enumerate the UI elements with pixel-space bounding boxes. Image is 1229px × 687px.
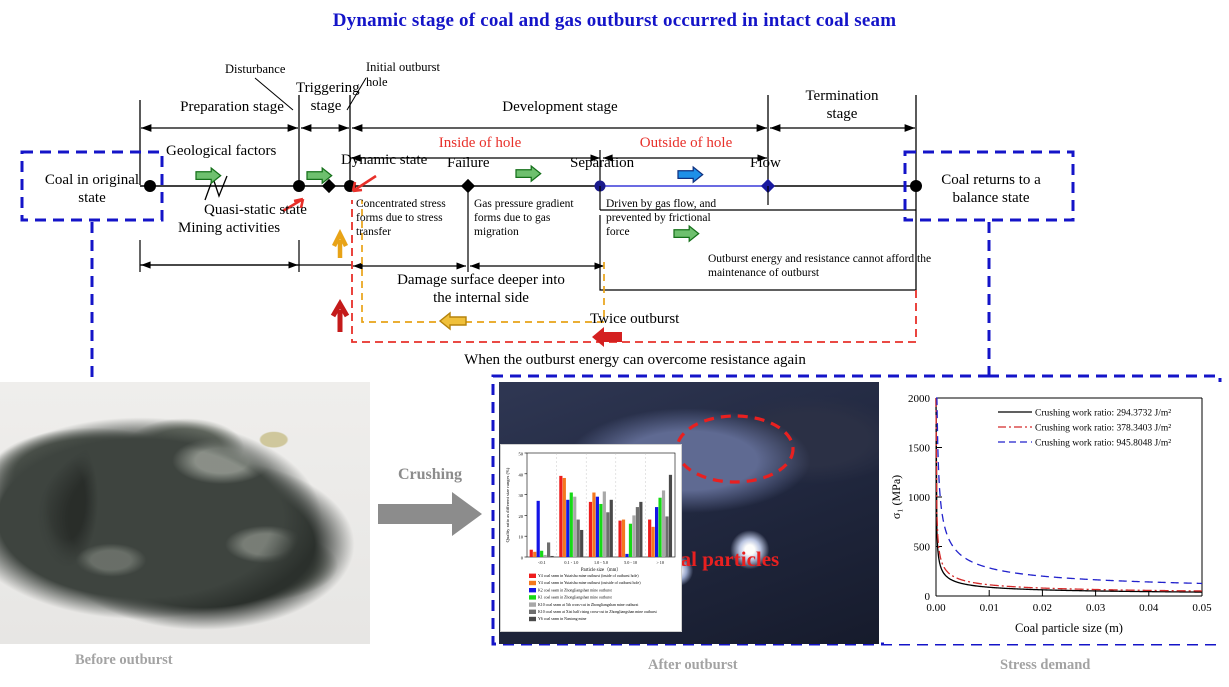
node-label-coal-original-2: state (28, 190, 156, 207)
desc-twice-outburst: Twice outburst (590, 311, 679, 328)
desc-driven-by-gas: Driven by gas flow, and prevented by fri… (606, 197, 724, 239)
red-arrow-left (592, 327, 622, 347)
node-label-geological-factors: Geological factors (166, 143, 276, 160)
stage-label-development: Development stage (460, 99, 660, 116)
svg-text:σ₁ (MPa): σ₁ (MPa) (889, 475, 903, 519)
svg-text:1500: 1500 (908, 443, 931, 455)
stage-label-preparation: Preparation stage (168, 99, 296, 116)
svg-text:K2 coal seam in Zhongliangshan: K2 coal seam in Zhongliangshan mine outb… (538, 588, 613, 592)
svg-text:Coal particle size (m): Coal particle size (m) (1015, 621, 1123, 635)
svg-text:30: 30 (519, 493, 524, 498)
callout-disturbance: Disturbance (225, 62, 285, 76)
svg-text:Quality ratio as different siz: Quality ratio as different size ranges (… (505, 467, 510, 542)
svg-text:> 10: > 10 (656, 560, 664, 565)
callout-initial-hole-2: hole (366, 75, 388, 89)
node-label-separation: Separation (570, 155, 634, 172)
node-label-coal-returns-2: balance state (920, 190, 1062, 207)
svg-text:K10 coal seam at Xist half ris: K10 coal seam at Xist half rising cross-… (538, 610, 658, 614)
blue-arrow (678, 167, 703, 182)
caption-stress-demand: Stress demand (1000, 657, 1090, 674)
desc-gas-pressure: Gas pressure gradient forms due to gas m… (474, 197, 592, 239)
svg-text:500: 500 (914, 542, 931, 554)
svg-text:20: 20 (519, 514, 524, 519)
svg-text:Y6 coal seam in Nantong mine: Y6 coal seam in Nantong mine (538, 617, 587, 621)
svg-text:0.01: 0.01 (980, 602, 999, 614)
node-label-flow: Flow (750, 155, 781, 172)
node-label-failure: Failure (447, 155, 490, 172)
svg-text:K1 coal seam in Zhongliangshan: K1 coal seam in Zhongliangshan mine outb… (538, 596, 613, 600)
svg-text:0.1 - 1.0: 0.1 - 1.0 (564, 560, 578, 565)
svg-text:5.0 - 10: 5.0 - 10 (624, 560, 637, 565)
callout-initial-hole-1: Initial outburst (366, 60, 440, 74)
svg-text:10: 10 (519, 535, 524, 540)
node-label-quasi-static: Quasi-static state (204, 202, 307, 219)
stress-demand-chart: 05001000150020000.000.010.020.030.040.05… (884, 382, 1224, 644)
embedded-bar-chart: 01020304050Quality ratio as different si… (500, 444, 682, 632)
caption-after-outburst: After outburst (648, 657, 738, 674)
label-crushing: Crushing (398, 466, 462, 484)
crushing-arrow (378, 490, 498, 560)
stage-label-termination-1: Termination (780, 88, 904, 105)
svg-text:<0.1: <0.1 (538, 560, 546, 565)
band-label-inside-hole: Inside of hole (400, 135, 560, 152)
svg-text:40: 40 (519, 472, 524, 477)
node-label-mining-activities: Mining activities (178, 220, 280, 237)
svg-text:50: 50 (519, 452, 524, 457)
stage-label-triggering-2: stage (296, 98, 356, 115)
svg-text:K10 coal seam at 5th cross-cut: K10 coal seam at 5th cross-cut in Zhongl… (538, 603, 639, 607)
band-label-outside-hole: Outside of hole (613, 135, 759, 152)
svg-text:0.02: 0.02 (1033, 602, 1052, 614)
desc-overcome-resistance: When the outburst energy can overcome re… (355, 352, 915, 369)
desc-damage-surface-2: the internal side (368, 290, 594, 307)
node-label-coal-returns-1: Coal returns to a (920, 172, 1062, 189)
svg-text:0.03: 0.03 (1086, 602, 1106, 614)
svg-text:1000: 1000 (908, 492, 931, 504)
svg-text:1.0 - 5.0: 1.0 - 5.0 (594, 560, 608, 565)
stage-label-triggering-1: Triggering (296, 80, 356, 97)
photo-before-outburst (0, 382, 370, 644)
svg-text:0.04: 0.04 (1139, 602, 1159, 614)
svg-text:2000: 2000 (908, 393, 931, 405)
svg-text:Particle size（mm）: Particle size（mm） (581, 567, 621, 573)
desc-concentrated-stress: Concentrated stress forms due to stress … (356, 197, 464, 239)
node-label-dynamic-state: Dynamic state (341, 152, 427, 169)
svg-text:Y4 coal seam in Yutaishu mine: Y4 coal seam in Yutaishu mine outburst (… (538, 581, 641, 585)
svg-text:Y4 coal seam in Yutaishu mine: Y4 coal seam in Yutaishu mine outburst (… (538, 574, 639, 578)
orange-arrow-left (440, 313, 466, 329)
svg-text:0: 0 (521, 556, 524, 561)
svg-text:Crushing work ratio: 378.3403: Crushing work ratio: 378.3403 J/m² (1035, 424, 1171, 434)
red-ellipse-annotation (677, 416, 793, 482)
svg-text:0.05: 0.05 (1192, 602, 1212, 614)
svg-text:Crushing work ratio: 294.3732: Crushing work ratio: 294.3732 J/m² (1035, 409, 1171, 419)
stage-label-termination-2: stage (780, 106, 904, 123)
svg-text:Crushing work ratio: 945.8048: Crushing work ratio: 945.8048 J/m² (1035, 439, 1171, 449)
caption-before-outburst: Before outburst (75, 652, 173, 669)
desc-outburst-energy: Outburst energy and resistance cannot af… (708, 252, 958, 280)
desc-damage-surface-1: Damage surface deeper into (368, 272, 594, 289)
node-label-coal-original-1: Coal in original (28, 172, 156, 189)
svg-text:0.00: 0.00 (926, 602, 946, 614)
node-quasi-static (293, 180, 305, 192)
